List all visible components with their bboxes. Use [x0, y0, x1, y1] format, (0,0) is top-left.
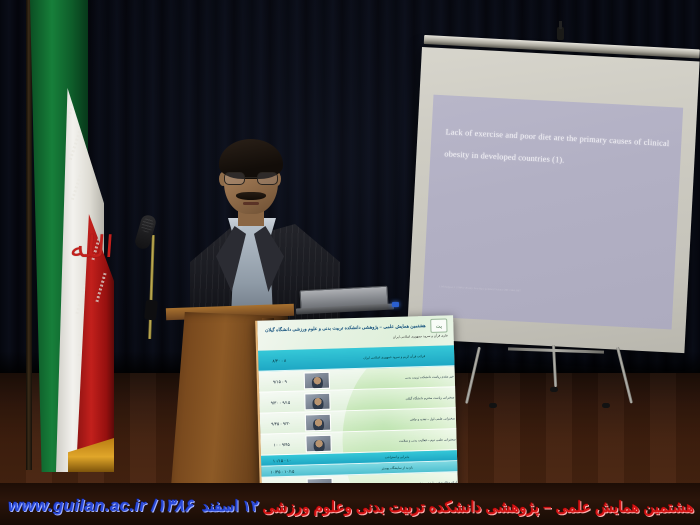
row-time: ۹ - ۹/۱۵	[259, 378, 301, 384]
podium-indicator-light	[392, 302, 399, 307]
row-photo	[304, 392, 330, 410]
projected-slide: Lack of exercise and poor diet are the p…	[422, 95, 683, 330]
bottom-banner: ۱۲ اسفند www.guilan.ac.ir /۱۳۸۶ هشتمین ه…	[0, 483, 700, 525]
speaker-mustache	[236, 192, 266, 200]
eyeglasses-icon	[224, 172, 278, 185]
row-time: ۱۰/۱۵ - ۱۰/۴۵	[261, 468, 303, 474]
banner-event-title: هشتمین همایش علمی – پژوهشی دانشکده تربیت…	[263, 498, 694, 516]
banner-left-group: ۱۲ اسفند www.guilan.ac.ir /۱۳۸۶	[8, 496, 259, 516]
row-photo	[303, 350, 329, 368]
projection-screen: Lack of exercise and poor diet are the p…	[424, 31, 700, 436]
slide-body-text: Lack of exercise and poor diet are the p…	[444, 121, 670, 177]
row-time: ۹/۱۵ - ۹/۳۰	[259, 399, 301, 405]
microphone-base-clip	[144, 299, 158, 320]
tripod-foot-right	[602, 403, 610, 408]
university-logo-icon: پت	[430, 318, 447, 332]
row-title: سخنرانی علمی اول – تغذیه و چاقی	[334, 416, 458, 424]
row-time: ۸ - ۸/۳۰	[258, 357, 300, 363]
screen-tripod-stand	[464, 343, 664, 407]
row-photo	[305, 413, 331, 431]
poster-subtitle: قاری قرآن و سرود جمهوری اسلامی ایران	[298, 333, 448, 342]
row-time: ۱۰ - ۱۰/۱۵	[261, 457, 303, 463]
tripod-leg-left	[465, 347, 481, 404]
tripod-foot-center	[550, 387, 558, 392]
row-title: قرائت قرآن کریم و سرود جمهوری اسلامی ایر…	[332, 353, 456, 361]
screen-surface: Lack of exercise and poor diet are the p…	[407, 47, 700, 353]
slide-citation-text: 1. Wickelgren, I. (1998). Obesity: how b…	[438, 285, 651, 300]
poster-title: هشتمین همایش علمی – پژوهشی دانشکده تربیت…	[263, 322, 427, 334]
tripod-leg-right	[616, 347, 633, 404]
banner-website-url[interactable]: www.guilan.ac.ir /۱۳۸۶	[8, 496, 193, 516]
photo-scene: Lack of exercise and poor diet are the p…	[0, 0, 700, 525]
row-photo	[304, 371, 330, 389]
row-title: سخنرانی علمی دوم – فعالیت بدنی و سلامت	[335, 437, 459, 445]
row-title: سخنرانی ریاست محترم دانشگاه گیلان	[333, 395, 457, 403]
banner-date: ۱۲ اسفند	[202, 497, 259, 515]
row-time: ۹/۳۰ - ۹/۴۵	[260, 420, 302, 426]
iran-emblem-icon: الله	[69, 228, 98, 268]
row-title: پذیرایی و استراحت	[335, 453, 459, 461]
row-title: بازدید از نمایشگاه پوستر	[335, 464, 459, 472]
screen-hook-icon	[557, 27, 564, 40]
tripod-crossbar	[508, 347, 604, 353]
row-time: ۹/۴۵ - ۱۰	[261, 441, 303, 447]
row-title: خیر مقدم ریاست دانشکده تربیت بدنی	[333, 374, 457, 382]
tripod-foot-left	[489, 403, 497, 408]
iran-flag: الله	[22, 0, 114, 472]
speaker-mouth	[243, 202, 259, 205]
row-photo	[305, 434, 331, 452]
